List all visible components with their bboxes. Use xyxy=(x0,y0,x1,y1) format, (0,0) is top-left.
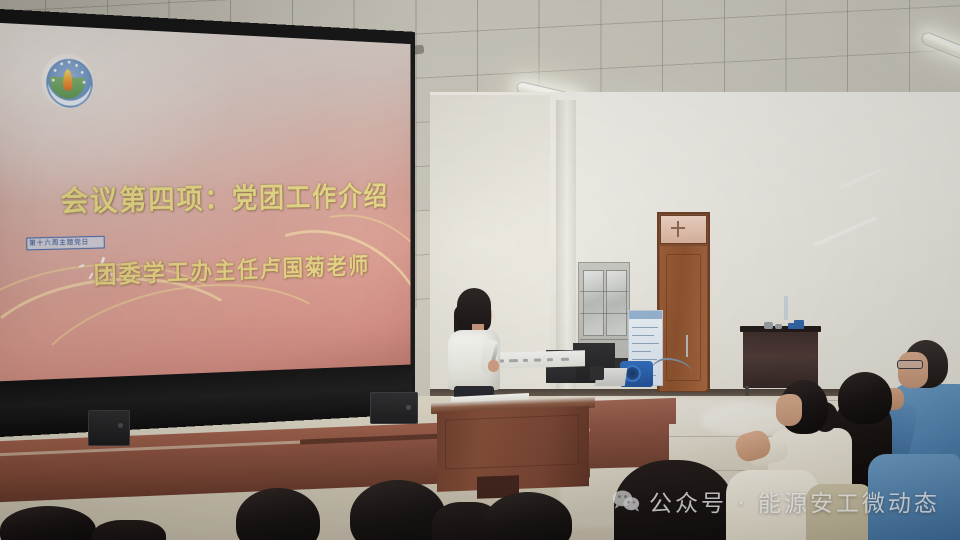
wooden-podium xyxy=(437,400,589,496)
eyeglasses xyxy=(897,360,923,369)
poster-header-band xyxy=(629,311,662,319)
poster-text-line-3 xyxy=(632,343,659,344)
gray-equipment-item-2 xyxy=(775,324,782,329)
cabinet-shelf-2 xyxy=(580,313,628,314)
woman-face xyxy=(776,394,802,426)
projected-slide: 第十六周主题党日 会议第四项：党团工作介绍 团委学工办主任卢国菊老师 xyxy=(0,23,410,384)
speaker-box-right xyxy=(370,392,418,424)
emblem-star-dots xyxy=(41,53,93,110)
poster-text-line-5 xyxy=(632,359,657,360)
cabinet-shelf-1 xyxy=(580,291,628,292)
slide-title: 会议第四项：党团工作介绍 xyxy=(60,174,389,220)
audience-foreground-bag xyxy=(806,484,872,540)
audience-foreground-torso-white xyxy=(726,470,818,540)
blue-box-item-2 xyxy=(788,323,795,329)
transom-detail-h xyxy=(671,227,685,229)
poster-text-line-1 xyxy=(632,327,658,328)
slide-blue-tag: 第十六周主题党日 xyxy=(26,236,105,251)
blue-box-item xyxy=(794,320,804,329)
presenter-hand xyxy=(488,360,499,372)
audience-foreground-torso-blue xyxy=(868,454,960,540)
audience-foreground-head-7 xyxy=(92,520,166,540)
cabinet-shelf-3 xyxy=(580,339,628,340)
poster-text-line-4 xyxy=(632,351,651,352)
audience-foreground-head-5 xyxy=(614,460,734,540)
transom-detail-v xyxy=(677,221,679,237)
desk-items-group xyxy=(758,312,806,332)
university-emblem xyxy=(41,53,93,110)
presentation-photo: 第十六周主题党日 会议第四项：党团工作介绍 团委学工办主任卢国菊老师 xyxy=(0,0,960,540)
cabinet-door-right[interactable] xyxy=(606,270,627,336)
cabinet-door-left[interactable] xyxy=(583,270,604,336)
glass-rod xyxy=(784,296,788,320)
podium-panel-inset xyxy=(445,414,579,469)
thin-metal-rod xyxy=(686,335,688,357)
gray-equipment-item xyxy=(764,322,773,329)
door-transom-window xyxy=(660,215,707,244)
black-small-device xyxy=(590,366,604,380)
poster-text-line-2 xyxy=(632,335,654,336)
projection-screen: 第十六周主题党日 会议第四项：党团工作介绍 团委学工办主任卢国菊老师 xyxy=(0,8,415,438)
speaker-box-left xyxy=(88,410,130,446)
